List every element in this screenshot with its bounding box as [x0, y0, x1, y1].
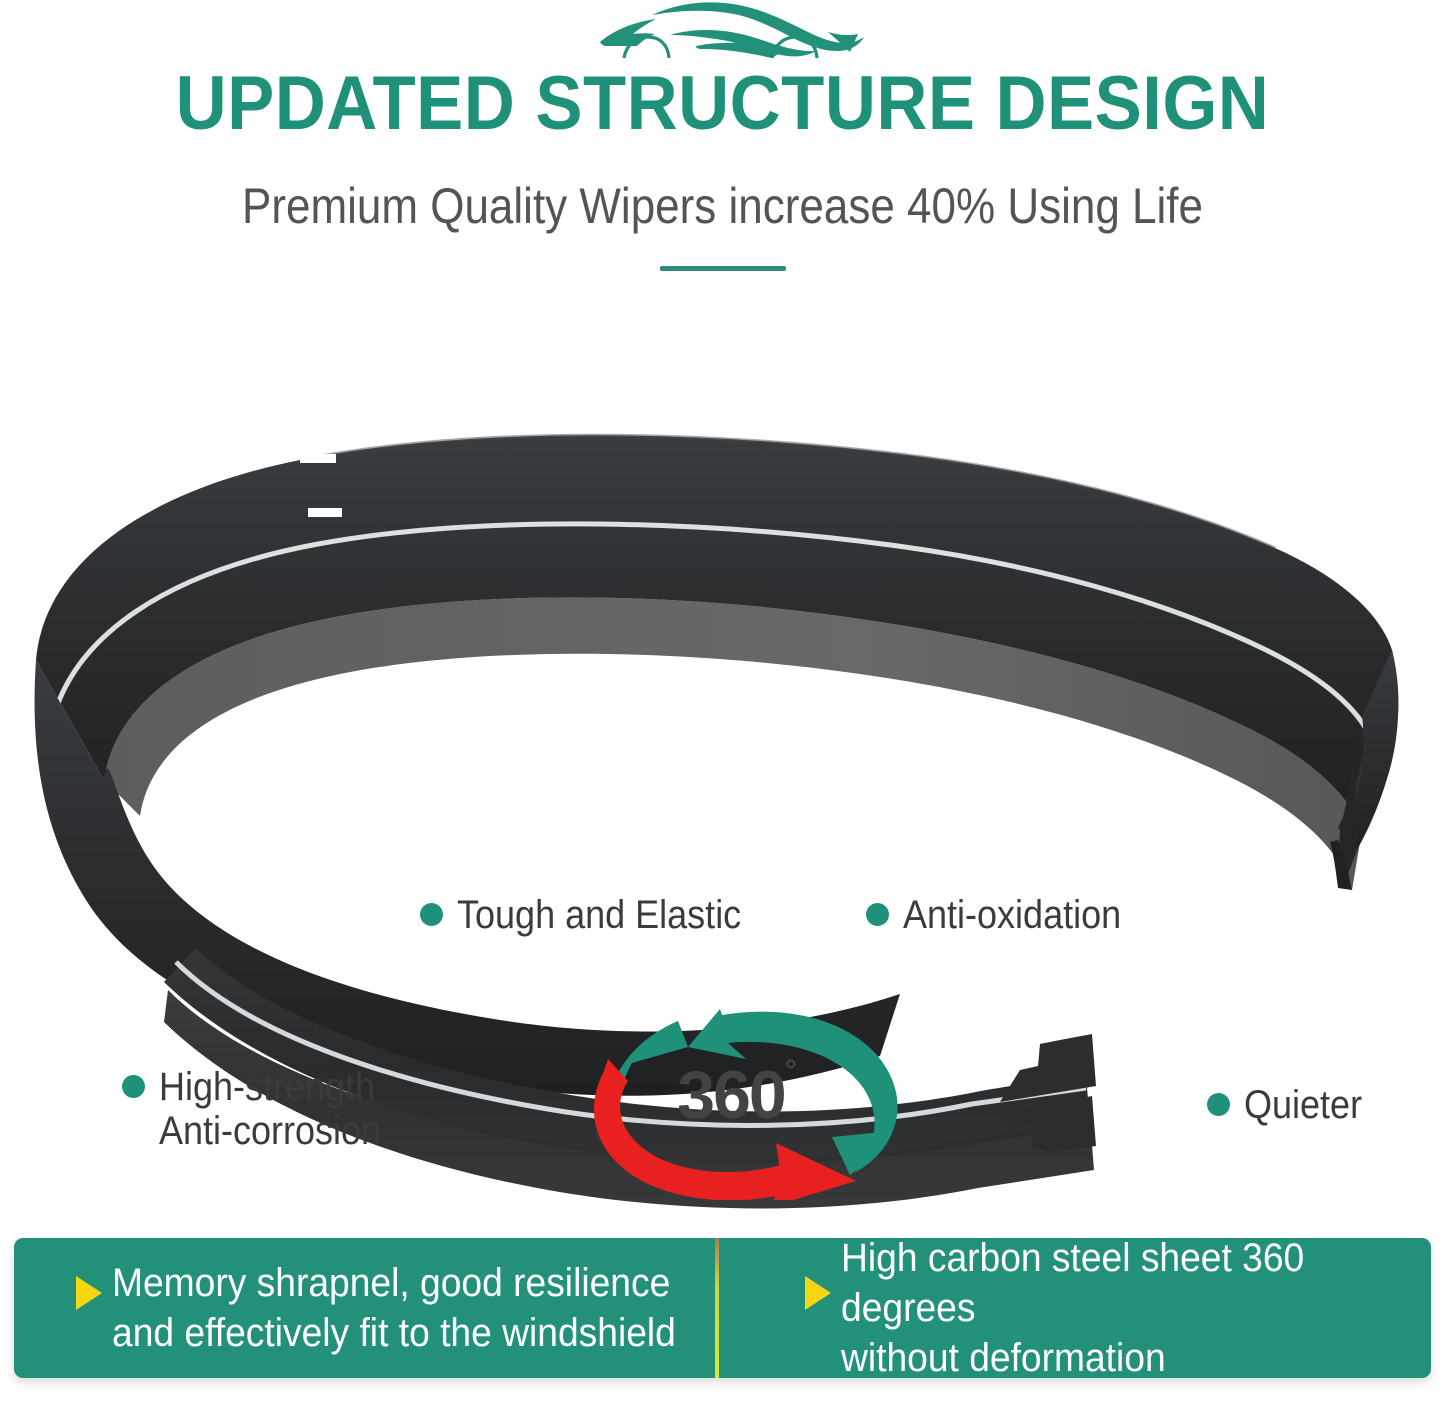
feature-label: Quieter — [1244, 1083, 1362, 1127]
feature-anti-oxidation: Anti-oxidation — [866, 893, 1145, 937]
360-degree-badge: 360 ° — [570, 985, 920, 1200]
triangle-right-icon — [805, 1276, 831, 1310]
banner-text: Memory shrapnel, good resilience and eff… — [112, 1258, 676, 1358]
page-subtitle: Premium Quality Wipers increase 40% Usin… — [87, 176, 1359, 236]
banner-text: High carbon steel sheet 360 degrees with… — [841, 1233, 1390, 1383]
banner-divider — [715, 1238, 719, 1378]
bullet-dot-icon — [866, 903, 889, 926]
feature-label: High-strength Anti-corrosion — [159, 1065, 381, 1153]
feature-tough-and-elastic: Tough and Elastic — [420, 893, 773, 937]
360-rotation-arrows-icon — [570, 985, 920, 1200]
feature-label: Tough and Elastic — [457, 893, 741, 937]
banner-item-high-carbon-steel: High carbon steel sheet 360 degrees with… — [723, 1238, 1432, 1378]
car-silhouette-icon — [576, 2, 868, 64]
product-marketing-image: UPDATED STRUCTURE DESIGN Premium Quality… — [0, 0, 1445, 1421]
feature-label: Anti-oxidation — [903, 893, 1121, 937]
banner-item-memory-shrapnel: Memory shrapnel, good resilience and eff… — [14, 1238, 723, 1378]
bottom-feature-banner: Memory shrapnel, good resilience and eff… — [14, 1238, 1431, 1378]
feature-quieter: Quieter — [1207, 1083, 1375, 1127]
title-divider — [660, 266, 786, 271]
product-image-area: Tough and Elastic Anti-oxidation High-st… — [0, 330, 1445, 1210]
bullet-dot-icon — [122, 1075, 145, 1098]
bullet-dot-icon — [420, 903, 443, 926]
page-title: UPDATED STRUCTURE DESIGN — [51, 62, 1395, 146]
bullet-dot-icon — [1207, 1093, 1230, 1116]
feature-high-strength-anti-corrosion: High-strength Anti-corrosion — [122, 1065, 406, 1153]
triangle-right-icon — [76, 1276, 102, 1310]
